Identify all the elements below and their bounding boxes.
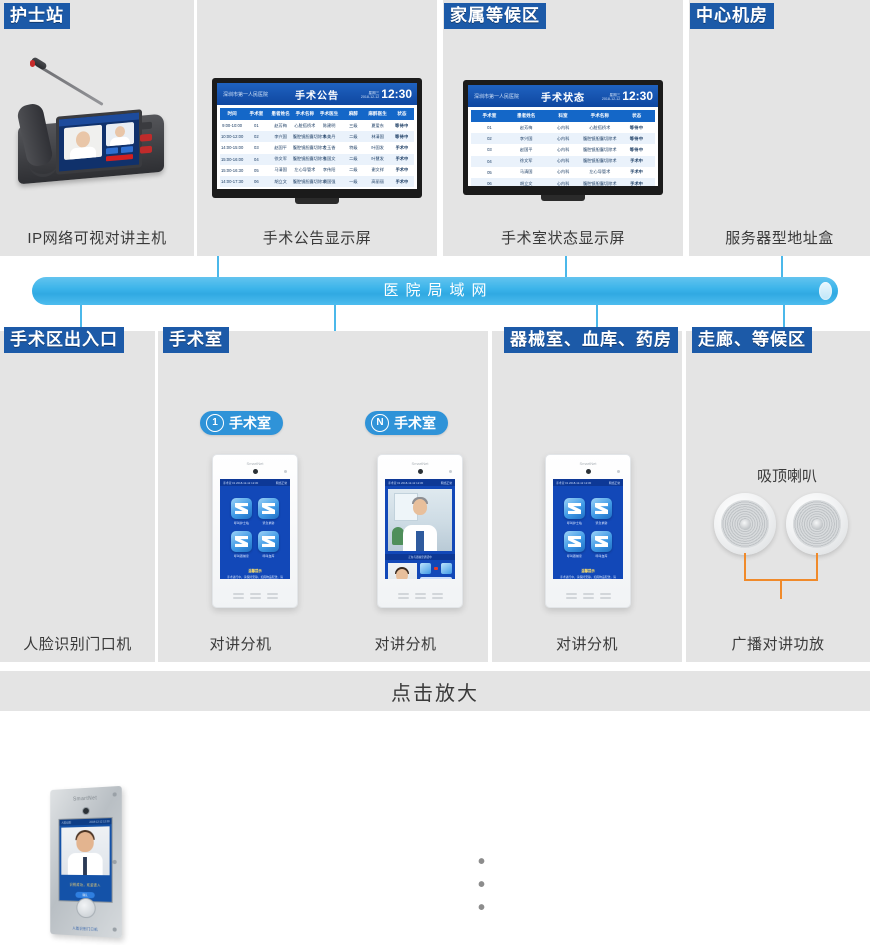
ext-statusbar-right: 网络正常	[441, 481, 452, 485]
click-to-enlarge-bar[interactable]: 点击放大	[0, 671, 870, 711]
status-badge: 等待中	[618, 144, 655, 155]
announce-table-wrap: 时间手术室患者姓名手术名称手术医生麻醉麻醉医生状态 9:00-10:0001赵芳…	[217, 105, 417, 189]
or-badge-label: 手术室	[394, 411, 436, 435]
ext-app-call-nurse[interactable]: 呼叫护士站	[230, 498, 253, 525]
or-badge-number: 1	[206, 414, 224, 432]
status-tv[interactable]: 深圳市第一人民医院 手术状态 星期三 2018-12-12 12:30 手术室患…	[463, 80, 663, 195]
caption-extension-1: 对讲分机	[158, 628, 323, 662]
status-badge: 等待中	[618, 133, 655, 144]
table-cell: 赵芳梅	[269, 120, 293, 131]
status-clock: 星期三 2018-12-12 12:30	[602, 90, 653, 102]
announce-time: 12:30	[381, 88, 412, 100]
table-cell: 心内科	[545, 144, 582, 155]
door-camera-icon	[82, 807, 90, 815]
status-table-wrap: 手术室患者姓名科室手术名称状态 01赵芳梅心内科心脏搭桥术等待中02李兴国心内科…	[468, 107, 658, 186]
transfer-arrow-icon	[434, 567, 438, 570]
table-cell: 谢文祥	[366, 165, 390, 176]
table-cell: 林清国	[366, 131, 390, 142]
table-cell: 左心导管术	[581, 167, 618, 178]
table-column-header: 患者姓名	[269, 108, 293, 120]
ext-app-label: 呼叫器械室	[563, 554, 586, 558]
console-hangup-key[interactable]	[106, 154, 133, 161]
caption-intercom-host: IP网络可视对讲主机	[0, 222, 194, 256]
status-badge: 等待中	[390, 131, 414, 142]
ext-app-call-blood-bank[interactable]: 呼叫血库	[257, 531, 280, 558]
table-cell: 06	[244, 176, 268, 187]
table-column-header: 科室	[545, 110, 582, 122]
ext-app-label: 紧急求助	[257, 521, 280, 525]
table-cell: 01	[471, 122, 508, 133]
ext-app-call-nurse[interactable]: 呼叫护士站	[563, 498, 586, 525]
table-column-header: 状态	[390, 108, 414, 120]
table-cell: 特级	[341, 142, 365, 153]
table-column-header: 时间	[220, 108, 244, 120]
table-column-header: 手术医生	[317, 108, 341, 120]
caption-address-box: 服务器型地址盒	[689, 222, 870, 256]
table-cell: 二级	[341, 165, 365, 176]
hospital-lan-backbone: 医院局域网	[32, 277, 838, 305]
table-cell: 心内科	[545, 178, 582, 186]
table-cell: 李伟阳	[317, 165, 341, 176]
panel-corridor-waiting[interactable]: 吸顶喇叭 SmartNet 广播对讲功放	[686, 331, 870, 662]
ceiling-speaker-right	[786, 493, 848, 555]
table-cell: 02	[471, 133, 508, 144]
status-badge: 手术中	[390, 165, 414, 176]
gooseneck-mic-tip	[30, 60, 35, 67]
speaker-wire-to-amp	[780, 579, 782, 599]
status-badge: 手术中	[618, 178, 655, 186]
click-to-enlarge-label: 点击放大	[391, 677, 479, 706]
table-cell: 心内科	[545, 122, 582, 133]
lan-end-cap	[819, 282, 832, 300]
door-message: 识别成功，欢迎进入	[61, 877, 109, 892]
or-badge-first: 1 手术室	[200, 411, 283, 435]
ext-app-emergency[interactable]: 紧急求助	[257, 498, 280, 525]
table-cell: 赵国平	[269, 142, 293, 153]
announce-tv-stand	[295, 198, 339, 204]
table-cell: 腹腔镜胆囊切除术	[581, 133, 618, 144]
door-screws	[113, 792, 118, 932]
table-row: 03赵国平心内科腹腔镜胆囊切除术等待中	[471, 144, 655, 155]
table-cell: 徐文军	[269, 154, 293, 165]
table-column-header: 手术室	[471, 110, 508, 122]
table-cell: 03	[471, 144, 508, 155]
table-row: 15:00-16:3005马清国左心导管术李伟阳二级谢文祥手术中	[220, 165, 414, 176]
zone-tag-instrument-blood-pharmacy: 器械室、血库、药房	[504, 327, 678, 353]
table-cell: 二级	[341, 131, 365, 142]
status-badge: 等待中	[618, 122, 655, 133]
table-row: 04徐文军心内科腹腔镜胆囊切除术手术中	[471, 156, 655, 167]
ext-brand: SmartNet	[546, 461, 630, 466]
table-cell: 15:00-16:30	[220, 165, 244, 176]
console-side-keys[interactable]	[140, 121, 156, 166]
door-footer-label: 人脸识别门口机	[50, 924, 122, 933]
status-screen: 深圳市第一人民医院 手术状态 星期三 2018-12-12 12:30 手术室患…	[468, 85, 658, 186]
ellipsis-more-rooms: • • •	[478, 851, 489, 920]
speaker-wire-left-v	[744, 553, 746, 581]
door-face-preview	[61, 826, 109, 875]
emergency-icon	[258, 498, 279, 519]
caption-extension-supply: 对讲分机	[492, 628, 682, 662]
status-badge: 手术中	[390, 142, 414, 153]
panel-operating-room[interactable]: 1 手术室 N 手术室 SmartNet 手术室 01 2018-12-12 1…	[158, 331, 488, 662]
ext-statusbar-right: 网络正常	[609, 481, 620, 485]
table-cell: 06	[471, 178, 508, 186]
door-screen: 人脸识别 2018-12-12 12:30 识别成功，欢迎进入 确认	[59, 817, 113, 903]
ext-status-led-icon	[449, 470, 452, 473]
ext-keypad[interactable]	[546, 593, 630, 599]
table-cell: 05	[244, 165, 268, 176]
ext-camera-icon	[253, 469, 258, 474]
lan-label: 医院局域网	[32, 277, 838, 305]
status-tv-stand	[541, 195, 585, 201]
ext-statusbar: 手术室 01 2018-12-12 12:30 网络正常	[220, 479, 290, 486]
ext-app-call-blood-bank[interactable]: 呼叫血库	[590, 531, 613, 558]
announce-screen: 深圳市第一人民医院 手术公告 星期三 2018-12-12 12:30 时间手术…	[217, 83, 417, 189]
announce-clock: 星期三 2018-12-12 12:30	[361, 88, 412, 100]
table-cell: 李兴国	[269, 131, 293, 142]
table-cell: 腹腔镜胆囊切除术	[581, 144, 618, 155]
zone-tag-operating-room: 手术室	[163, 327, 229, 353]
panel-or-entrance[interactable]: SmartNet 人脸识别 2018-12-12 12:30 识别成功，欢迎进入…	[0, 331, 155, 662]
ext-app-label: 呼叫器械室	[230, 554, 253, 558]
camera-toggle-icon[interactable]	[420, 563, 431, 574]
ext-app-emergency[interactable]: 紧急求助	[590, 498, 613, 525]
table-row: 14:00-15:0003赵国平腹腔镜胆囊切除术左玉香特级叶国发手术中	[220, 142, 414, 153]
table-cell: 02	[244, 131, 268, 142]
table-cell: 赵国平	[508, 144, 545, 155]
table-cell: 陈建明	[317, 120, 341, 131]
ceiling-speaker-left	[714, 493, 776, 555]
caption-face-door: 人脸识别门口机	[0, 628, 155, 662]
ext-status-led-icon	[617, 470, 620, 473]
table-cell: 10:00-12:00	[220, 131, 244, 142]
status-date: 2018-12-12	[602, 97, 620, 102]
panel-status-display[interactable]: 深圳市第一人民医院 手术状态 星期三 2018-12-12 12:30 手术室患…	[443, 0, 683, 256]
call-instrument-icon	[564, 531, 585, 552]
table-column-header: 状态	[618, 110, 655, 122]
panel-address-box[interactable]: SC 服务器型地址盒	[689, 0, 870, 256]
table-cell: 胡立文	[269, 176, 293, 187]
caption-amplifier: 广播对讲功放	[686, 628, 870, 662]
ext-statusbar-right: 网络正常	[276, 481, 287, 485]
table-cell: 心内科	[545, 156, 582, 167]
ext-app-label: 紧急求助	[590, 521, 613, 525]
ext-statusbar-left: 手术室 01 2018-12-12 12:30	[556, 481, 591, 485]
link-lan-to-operating-room	[334, 305, 336, 331]
zone-tag-corridor-waiting: 走廊、等候区	[692, 327, 812, 353]
call-caption: 正在与器械室通话中	[385, 554, 455, 560]
ext-app-call-instrument[interactable]: 呼叫器械室	[230, 531, 253, 558]
door-statusbar: 人脸识别 2018-12-12 12:30	[59, 818, 111, 826]
ext-app-grid: 呼叫护士站 紧急求助 呼叫器械室 呼叫血库	[220, 486, 290, 564]
panel-nurse-station[interactable]: IP网络可视对讲主机	[0, 0, 194, 256]
table-cell: 徐文军	[508, 156, 545, 167]
ext-keypad[interactable]	[378, 593, 462, 599]
table-cell: 心脏搭桥术	[581, 122, 618, 133]
console-softkey-1[interactable]	[106, 147, 118, 154]
face-recognition-door-station[interactable]: SmartNet 人脸识别 2018-12-12 12:30 识别成功，欢迎进入…	[50, 786, 122, 938]
panel-announce-display[interactable]: 深圳市第一人民医院 手术公告 星期三 2018-12-12 12:30 时间手术…	[197, 0, 437, 256]
ext-camera-icon	[586, 469, 591, 474]
call-blood-bank-icon	[258, 531, 279, 552]
table-cell: 叶慧发	[366, 154, 390, 165]
caption-extension-n: 对讲分机	[323, 628, 488, 662]
table-cell: 05	[471, 167, 508, 178]
table-cell: 马清国	[508, 167, 545, 178]
table-row: 15:00-16:0004徐文军腹腔镜胆囊切除术张国文二级叶慧发手术中	[220, 154, 414, 165]
table-cell: 胡立文	[508, 178, 545, 186]
door-statusbar-right: 2018-12-12 12:30	[89, 820, 109, 824]
or-badge-label: 手术室	[229, 411, 271, 435]
table-row: 05马清国心内科左心导管术手术中	[471, 167, 655, 178]
zone-tag-central-machine-room: 中心机房	[690, 3, 774, 29]
table-cell: 马清国	[269, 165, 293, 176]
table-row: 02李兴国心内科腹腔镜胆囊切除术等待中	[471, 133, 655, 144]
table-cell: 03	[244, 142, 268, 153]
table-cell: 心内科	[545, 167, 582, 178]
table-cell: 高丽丽	[366, 176, 390, 187]
console-softkey-2[interactable]	[121, 146, 133, 153]
speaker-toggle-icon[interactable]	[441, 563, 452, 574]
status-badge: 手术中	[618, 156, 655, 167]
table-row: 06胡立文心内科腹腔镜胆囊切除术手术中	[471, 178, 655, 186]
intercom-extension-supply[interactable]: SmartNet 手术室 01 2018-12-12 12:30 网络正常 呼叫…	[545, 454, 631, 608]
table-cell: 左心导管术	[293, 165, 317, 176]
intercom-extension-orn[interactable]: SmartNet 手术室 01 2018-12-12 12:30 网络正常	[377, 454, 463, 608]
emergency-icon	[591, 498, 612, 519]
table-cell: 04	[244, 154, 268, 165]
status-table: 手术室患者姓名科室手术名称状态 01赵芳梅心内科心脏搭桥术等待中02李兴国心内科…	[471, 110, 655, 186]
table-column-header: 患者姓名	[508, 110, 545, 122]
or-badge-nth: N 手术室	[365, 411, 448, 435]
announce-table-header: 时间手术室患者姓名手术名称手术医生麻醉麻醉医生状态	[220, 108, 414, 120]
ext-statusbar: 手术室 01 2018-12-12 12:30 网络正常	[385, 479, 455, 486]
table-row: 10:00-12:0002李兴国腹腔镜胆囊切除术朱美丹二级林清国等待中	[220, 131, 414, 142]
gooseneck-mic-arm	[35, 63, 103, 106]
call-instrument-icon	[231, 531, 252, 552]
door-brand: SmartNet	[50, 794, 122, 804]
intercom-extension-or1[interactable]: SmartNet 手术室 01 2018-12-12 12:30 网络正常 呼叫…	[212, 454, 298, 608]
announce-tv[interactable]: 深圳市第一人民医院 手术公告 星期三 2018-12-12 12:30 时间手术…	[212, 78, 422, 198]
announce-screen-header: 深圳市第一人民医院 手术公告 星期三 2018-12-12 12:30	[217, 83, 417, 105]
call-blood-bank-icon	[591, 531, 612, 552]
ext-app-label: 呼叫护士站	[563, 521, 586, 525]
announce-hospital-name: 深圳市第一人民医院	[223, 91, 268, 98]
ceiling-speaker-label: 吸顶喇叭	[742, 465, 832, 486]
table-cell: 叶国发	[366, 142, 390, 153]
call-nurse-icon	[564, 498, 585, 519]
zone-tag-or-entrance: 手术区出入口	[4, 327, 124, 353]
zone-tag-nurse-station: 护士站	[4, 3, 70, 29]
status-table-header: 手术室患者姓名科室手术名称状态	[471, 110, 655, 122]
ext-app-grid: 呼叫护士站 紧急求助 呼叫器械室 呼叫血库	[553, 486, 623, 564]
table-cell: 9:00-10:00	[220, 120, 244, 131]
table-cell: 04	[471, 156, 508, 167]
diagram-canvas: IP网络可视对讲主机 深圳市第一人民医院 手术公告 星期三 2018-12-12…	[0, 0, 870, 711]
announce-date: 2018-12-12	[361, 95, 379, 100]
caller-video-large	[64, 125, 102, 160]
or-badge-number: N	[371, 414, 389, 432]
table-cell: 赵芳梅	[508, 122, 545, 133]
ext-app-label: 呼叫血库	[590, 554, 613, 558]
call-hangup-button[interactable]: 挂断	[420, 577, 452, 579]
table-row: 9:00-10:0001赵芳梅心脏搭桥术陈建明三级夏爱东等待中	[220, 120, 414, 131]
table-cell: 二级	[341, 154, 365, 165]
table-row: 01赵芳梅心内科心脏搭桥术等待中	[471, 122, 655, 133]
table-cell: 腹腔镜胆囊切除术	[581, 156, 618, 167]
announce-table: 时间手术室患者姓名手术名称手术医生麻醉麻醉医生状态 9:00-10:0001赵芳…	[220, 108, 414, 187]
table-cell: 01	[244, 120, 268, 131]
table-cell: 心脏搭桥术	[293, 120, 317, 131]
speaker-wire-right-v	[816, 553, 818, 581]
status-hospital-name: 深圳市第一人民医院	[474, 93, 519, 100]
call-nurse-icon	[231, 498, 252, 519]
table-column-header: 手术名称	[293, 108, 317, 120]
ext-screen: 手术室 01 2018-12-12 12:30 网络正常 正在与器械室通话中	[385, 479, 455, 579]
table-cell: 14:00-17:30	[220, 176, 244, 187]
status-badge: 手术中	[390, 176, 414, 187]
table-cell: 夏爱东	[366, 120, 390, 131]
fingerprint-icon[interactable]	[76, 898, 95, 919]
ext-notice-body: 手术进行中，请保持安静。如需物品配送，请点击上方按钮呼叫。	[553, 573, 623, 579]
table-column-header: 麻醉医生	[366, 108, 390, 120]
table-cell: 腹腔镜胆囊切除术	[293, 142, 317, 153]
ext-status-led-icon	[284, 470, 287, 473]
ext-screen: 手术室 01 2018-12-12 12:30 网络正常 呼叫护士站 紧急求助 …	[553, 479, 623, 579]
ext-app-label: 呼叫护士站	[230, 521, 253, 525]
ext-app-label: 呼叫血库	[257, 554, 280, 558]
status-time: 12:30	[622, 90, 653, 102]
table-cell: 李兴国	[508, 133, 545, 144]
caller-video-small	[106, 122, 134, 146]
caption-status-display: 手术室状态显示屏	[443, 222, 683, 256]
panel-instrument-blood-pharmacy[interactable]: SmartNet 手术室 01 2018-12-12 12:30 网络正常 呼叫…	[492, 331, 682, 662]
status-screen-header: 深圳市第一人民医院 手术状态 星期三 2018-12-12 12:30	[468, 85, 658, 107]
table-cell: 三级	[341, 120, 365, 131]
caption-announce-display: 手术公告显示屏	[197, 222, 437, 256]
table-column-header: 手术室	[244, 108, 268, 120]
zone-tag-family-waiting: 家属等候区	[444, 3, 546, 29]
status-badge: 手术中	[390, 154, 414, 165]
ext-screen: 手术室 01 2018-12-12 12:30 网络正常 呼叫护士站 紧急求助 …	[220, 479, 290, 579]
table-cell: 腹腔镜胆囊切除术	[293, 154, 317, 165]
table-cell: 腹腔镜胆囊切除术	[581, 178, 618, 186]
remote-video-view	[388, 489, 452, 551]
table-cell: 腹腔镜胆囊切除术	[293, 131, 317, 142]
table-column-header: 麻醉	[341, 108, 365, 120]
status-badge: 手术中	[618, 167, 655, 178]
table-cell: 14:00-15:00	[220, 142, 244, 153]
intercom-console-screen	[56, 109, 142, 175]
table-cell: 心内科	[545, 133, 582, 144]
status-badge: 等待中	[390, 120, 414, 131]
table-cell: 一级	[341, 176, 365, 187]
ext-statusbar-left: 手术室 01 2018-12-12 12:30	[388, 481, 423, 485]
ext-statusbar-left: 手术室 01 2018-12-12 12:30	[223, 481, 258, 485]
ext-brand: SmartNet	[378, 461, 462, 466]
ext-notice-body: 手术进行中，请保持安静。如需物品配送，请点击上方按钮呼叫。	[220, 573, 290, 579]
call-controls-row: 挂断	[388, 563, 452, 579]
call-controls: 挂断	[420, 563, 452, 579]
ext-app-call-instrument[interactable]: 呼叫器械室	[563, 531, 586, 558]
door-statusbar-left: 人脸识别	[61, 820, 71, 824]
ext-camera-icon	[418, 469, 423, 474]
ext-brand: SmartNet	[213, 461, 297, 466]
ext-statusbar: 手术室 01 2018-12-12 12:30 网络正常	[553, 479, 623, 486]
table-row: 14:00-17:3006胡立文腹腔镜胆囊切除术胡国强一级高丽丽手术中	[220, 176, 414, 187]
table-column-header: 手术名称	[581, 110, 618, 122]
ext-keypad[interactable]	[213, 593, 297, 599]
self-video-view	[388, 563, 417, 579]
table-cell: 腹腔镜胆囊切除术	[293, 176, 317, 187]
table-cell: 15:00-16:00	[220, 154, 244, 165]
